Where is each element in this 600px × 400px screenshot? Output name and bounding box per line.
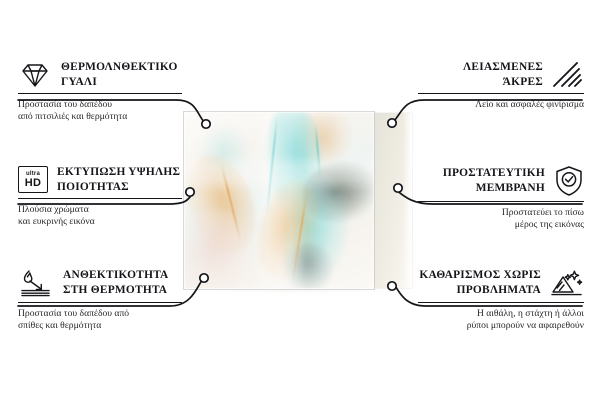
feature-description: Λείο και ασφαλές φινίρισμα <box>418 99 584 111</box>
diamond-icon <box>18 61 52 89</box>
feature-title: ΛΕΙΑΣΜΕΝΕΣ ΆΚΡΕΣ <box>463 60 543 89</box>
feature-description: Η αιθάλη, η στάχτη ή άλλοι ρύποι μπορούν… <box>418 308 584 332</box>
feature-header: ΚΑΘΑΡΙΣΜΟΣ ΧΩΡΙΣ ΠΡΟΒΛΗΜΑΤΑ <box>418 268 584 298</box>
connector-node-membrane <box>394 184 402 192</box>
feature-divider <box>18 93 182 94</box>
connector-node-heat <box>200 274 208 282</box>
feature-header: ultra HD ΕΚΤΥΠΩΣΗ ΥΨΗΛΗΣ ΠΟΙΟΤΗΤΑΣ <box>18 165 182 194</box>
feature-description: Προστατεύει το πίσω μέρος της εικόνας <box>418 207 584 231</box>
feature-header: ΘΕΡΜΟΛΝΘΕΚΤΙΚΟ ΓΥΑΛΙ <box>18 60 182 89</box>
feature-polished-edges: ΛΕΙΑΣΜΕΝΕΣ ΆΚΡΕΣ Λείο και ασφαλές φινίρι… <box>418 60 584 111</box>
infographic-canvas: ΘΕΡΜΟΛΝΘΕΚΤΙΚΟ ΓΥΑΛΙ Προστασία του δαπέδ… <box>0 0 600 400</box>
ultra-hd-badge-icon: ultra HD <box>18 166 48 193</box>
ultra-hd-large-label: HD <box>25 178 42 189</box>
feature-high-quality-print: ultra HD ΕΚΤΥΠΩΣΗ ΥΨΗΛΗΣ ΠΟΙΟΤΗΤΑΣ Πλούσ… <box>18 165 182 229</box>
feature-title: ΑΝΘΕΚΤΙΚΟΤΗΤΑ ΣΤΗ ΘΕΡΜΟΤΗΤΑ <box>63 268 168 297</box>
sparkle-clean-icon <box>550 268 584 298</box>
feature-divider <box>18 302 182 303</box>
feature-description: Πλούσια χρώματα και ευκρινής εικόνα <box>18 204 182 228</box>
feature-divider <box>18 198 182 199</box>
feature-title: ΚΑΘΑΡΙΣΜΟΣ ΧΩΡΙΣ ΠΡΟΒΛΗΜΑΤΑ <box>419 268 541 297</box>
feature-header: ΑΝΘΕΚΤΙΚΟΤΗΤΑ ΣΤΗ ΘΕΡΜΟΤΗΤΑ <box>18 268 182 298</box>
shield-check-icon <box>554 165 584 197</box>
ultra-hd-small-label: ultra <box>26 171 40 177</box>
feature-description: Προστασία του δαπέδου από πιτσιλιές και … <box>18 99 182 123</box>
connector-node-thermal <box>202 120 210 128</box>
feature-title: ΘΕΡΜΟΛΝΘΕΚΤΙΚΟ ΓΥΑΛΙ <box>61 60 178 89</box>
feature-title: ΕΚΤΥΠΩΣΗ ΥΨΗΛΗΣ ΠΟΙΟΤΗΤΑΣ <box>57 165 180 194</box>
diagonal-lines-icon <box>552 61 584 88</box>
connector-node-print <box>186 188 194 196</box>
feature-divider <box>418 302 584 303</box>
connector-node-cleaning <box>388 282 396 290</box>
feature-header: ΛΕΙΑΣΜΕΝΕΣ ΆΚΡΕΣ <box>418 60 584 89</box>
feature-easy-cleaning: ΚΑΘΑΡΙΣΜΟΣ ΧΩΡΙΣ ΠΡΟΒΛΗΜΑΤΑ Η αιθάλη, η … <box>418 268 584 332</box>
feature-heat-durability: ΑΝΘΕΚΤΙΚΟΤΗΤΑ ΣΤΗ ΘΕΡΜΟΤΗΤΑ Προστασία το… <box>18 268 182 332</box>
feature-divider <box>418 93 584 94</box>
feature-title: ΠΡΟΣΤΑΤΕΥΤΙΚΗ ΜΕΜΒΡΑΝΗ <box>443 166 545 195</box>
connector-node-edges <box>388 119 396 127</box>
feature-header: ΠΡΟΣΤΑΤΕΥΤΙΚΗ ΜΕΜΒΡΑΝΗ <box>418 165 584 197</box>
feature-divider <box>418 201 584 202</box>
feature-protective-membrane: ΠΡΟΣΤΑΤΕΥΤΙΚΗ ΜΕΜΒΡΑΝΗ Προστατεύει το πί… <box>418 165 584 231</box>
flame-deflect-icon <box>18 268 54 298</box>
feature-thermal-resistant-glass: ΘΕΡΜΟΛΝΘΕΚΤΙΚΟ ΓΥΑΛΙ Προστασία του δαπέδ… <box>18 60 182 124</box>
feature-description: Προστασία του δαπέδου από σπίθες και θερ… <box>18 308 182 332</box>
